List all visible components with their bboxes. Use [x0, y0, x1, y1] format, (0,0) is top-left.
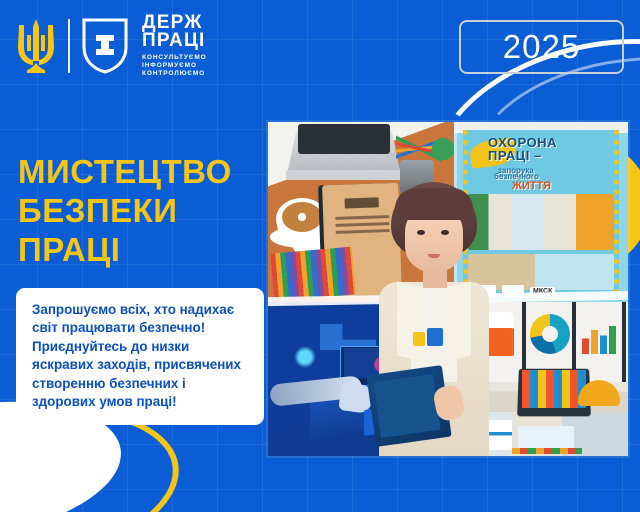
poster-header: ДЕРЖ ПРАЦІ КОНСУЛЬТУЄМО ІНФОРМУЄМО КОНТР… — [0, 0, 640, 96]
photo-collage: ОХОРОНА ПРАЦІ – запорука безпечного ЖИТТ… — [268, 122, 628, 456]
colored-pencils-graphic — [270, 247, 356, 302]
invitation-text: Запрошуємо всіх, хто надихає світ працюв… — [32, 301, 250, 411]
brand-lockup: ДЕРЖ ПРАЦІ КОНСУЛЬТУЄМО ІНФОРМУЄМО КОНТР… — [14, 14, 207, 78]
laptop-base-graphic — [286, 170, 404, 180]
brand-line-2: ПРАЦІ — [142, 32, 207, 50]
bar-chart-graphic — [582, 320, 622, 354]
latte-art-graphic — [282, 202, 322, 232]
character-lapel-left — [397, 281, 419, 360]
laptop-screen-graphic — [298, 124, 390, 154]
safety-specialist-character — [373, 182, 493, 456]
expo-laptop-screen-graphic — [522, 370, 586, 408]
invitation-card: Запрошуємо всіх, хто надихає світ працюв… — [16, 288, 264, 425]
character-fringe — [395, 188, 473, 220]
character-badge-yellow — [413, 332, 425, 346]
brand-tagline-1: КОНСУЛЬТУЄМО — [142, 54, 207, 62]
headline-line-2: БЕЗПЕКИ — [18, 191, 268, 230]
poster-subtitle-3: ЖИТТЯ — [512, 180, 551, 192]
brand-tagline-3: КОНТРОЛЮЄМО — [142, 70, 207, 78]
character-badge-blue — [427, 328, 443, 346]
plant-graphic — [430, 136, 454, 162]
ukraine-trident-icon — [14, 17, 58, 75]
year-label: 2025 — [503, 28, 580, 66]
derzhpratsi-shield-icon — [80, 17, 130, 75]
poster-title: ОХОРОНА ПРАЦІ – — [488, 136, 557, 162]
campaign-poster: ДЕРЖ ПРАЦІ КОНСУЛЬТУЄМО ІНФОРМУЄМО КОНТР… — [0, 0, 640, 512]
year-badge: 2025 — [459, 20, 624, 74]
character-clipboard-inner — [373, 374, 440, 438]
headline-line-1: МИСТЕЦТВО — [18, 152, 268, 191]
glow-orb-graphic — [294, 346, 316, 368]
brand-wordmark: ДЕРЖ ПРАЦІ КОНСУЛЬТУЄМО ІНФОРМУЄМО КОНТР… — [142, 14, 207, 78]
logo-divider — [68, 19, 70, 73]
donut-chart-graphic — [530, 314, 570, 354]
brand-tagline-2: ІНФОРМУЄМО — [142, 62, 207, 70]
headline-line-3: ПРАЦІ — [18, 230, 268, 269]
poster-title-line-2: ПРАЦІ – — [488, 149, 557, 162]
character-lapel-right — [449, 281, 471, 360]
character-eye-left — [417, 230, 425, 235]
expo-pens-graphic — [512, 448, 582, 454]
character-eye-right — [441, 230, 449, 235]
page-title: МИСТЕЦТВО БЕЗПЕКИ ПРАЦІ — [18, 152, 268, 269]
